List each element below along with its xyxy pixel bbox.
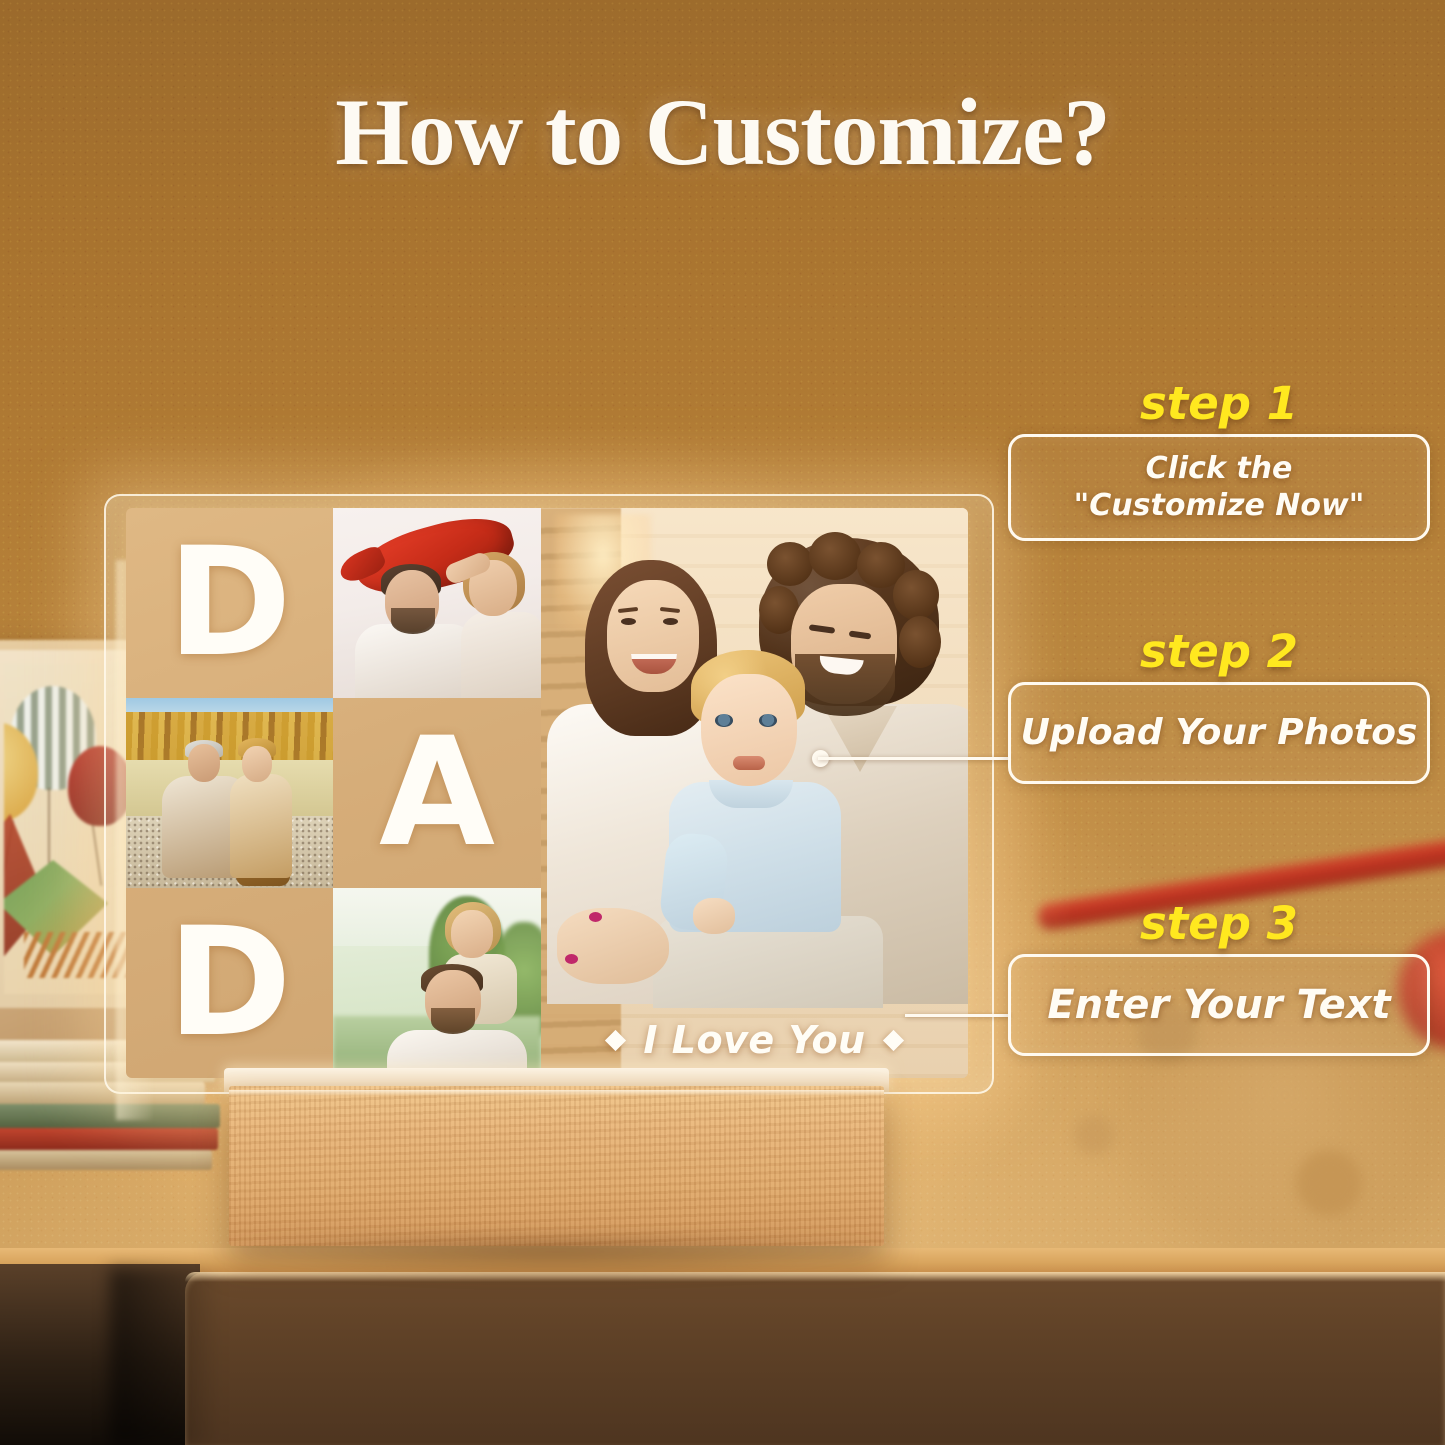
collage-cell-photo-lakeshore	[126, 698, 333, 888]
man-torso	[355, 624, 475, 698]
mother-eye	[663, 618, 678, 625]
letter-d: D	[126, 508, 333, 698]
child-torso	[461, 612, 541, 698]
step-2-text: Upload Your Photos	[1021, 711, 1418, 755]
fingernail	[565, 954, 578, 964]
connector-line-step3	[905, 1014, 1010, 1017]
letter-d: D	[126, 888, 333, 1078]
step-1-line-1: Click the	[1146, 451, 1293, 486]
wooden-block-base	[229, 1086, 884, 1246]
step-1-label: step 1	[1008, 380, 1430, 427]
step-1-text: Click the "Customize Now"	[1074, 451, 1365, 524]
autumn-forest	[126, 712, 333, 764]
father-hair-curl	[893, 570, 939, 620]
child-head	[242, 746, 272, 782]
step-1-box[interactable]: Click the "Customize Now"	[1008, 434, 1430, 541]
girl-head	[451, 910, 493, 958]
collage-main-photo: I Love You	[541, 508, 968, 1078]
collage-cell-letter-d1: D	[126, 508, 333, 698]
mother-eye	[621, 618, 636, 625]
collage-cell-letter-a: A	[333, 698, 541, 888]
step-3-label: step 3	[1008, 900, 1430, 947]
collage-cell-letter-d2: D	[126, 888, 333, 1078]
father-hair-curl	[767, 542, 813, 586]
mother-hand	[557, 908, 669, 984]
wood-base-groove	[229, 1090, 884, 1096]
mother-face	[607, 580, 699, 692]
toddler-mouth	[733, 756, 765, 770]
step-2-callout: step 2 Upload Your Photos	[1008, 628, 1430, 784]
base-cast-shadow	[206, 1238, 906, 1278]
collage-cell-photo-pillow	[333, 508, 541, 698]
photo-dad-and-toddler-lakeshore	[126, 698, 333, 888]
letter-a: A	[333, 698, 541, 888]
toddler-eye	[759, 714, 777, 727]
collage-left-grid: D	[126, 508, 541, 1078]
father-hair-curl	[899, 616, 941, 668]
photo-dad-with-girl-on-shoulders	[333, 888, 541, 1078]
printed-collage-panel: D	[126, 508, 968, 1078]
man-beard	[431, 1008, 475, 1034]
photo-family-mother-father-toddler: I Love You	[541, 508, 968, 1078]
man-beard	[391, 608, 435, 634]
fingernail	[589, 912, 602, 922]
man-head	[188, 744, 220, 782]
toddler-hand	[693, 898, 735, 934]
step-1-line-2: "Customize Now"	[1074, 488, 1365, 523]
step-3-box[interactable]: Enter Your Text	[1008, 954, 1430, 1056]
toddler-eye	[715, 714, 733, 727]
step-3-callout: step 3 Enter Your Text	[1008, 900, 1430, 1056]
connector-line-step2	[818, 757, 1010, 760]
step-2-box[interactable]: Upload Your Photos	[1008, 682, 1430, 784]
step-2-label: step 2	[1008, 628, 1430, 675]
child-torso	[230, 774, 292, 878]
photo-dad-and-child-red-pillow	[333, 508, 541, 698]
collage-cell-photo-shoulders	[333, 888, 541, 1078]
step-3-text: Enter Your Text	[1047, 981, 1390, 1030]
step-1-callout: step 1 Click the "Customize Now"	[1008, 380, 1430, 541]
father-hair-curl	[809, 532, 861, 580]
